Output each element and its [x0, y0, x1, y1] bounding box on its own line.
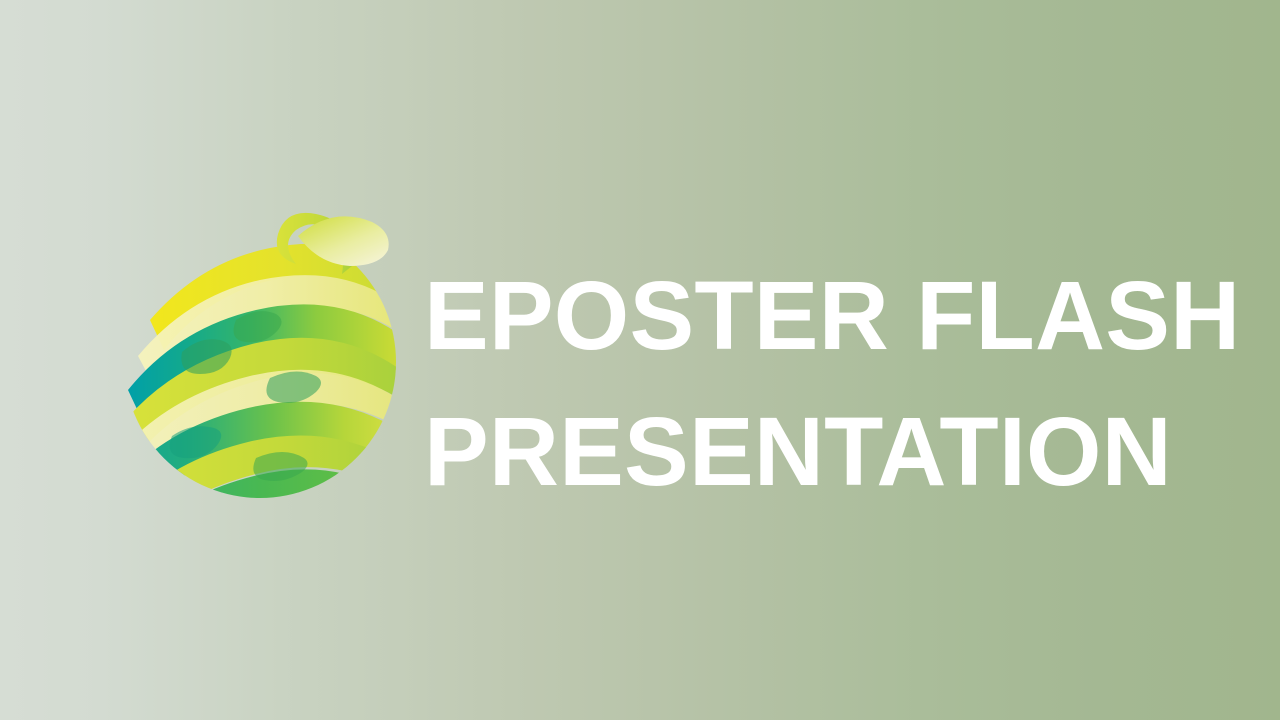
- page-title: EPOSTER FLASH PRESENTATION: [424, 248, 1224, 520]
- slide-canvas: EPOSTER FLASH PRESENTATION: [0, 0, 1280, 720]
- title-line-2: PRESENTATION: [424, 384, 1224, 520]
- title-line-1: EPOSTER FLASH: [424, 248, 1224, 384]
- globe-ribbon-leaf-logo: [120, 200, 400, 520]
